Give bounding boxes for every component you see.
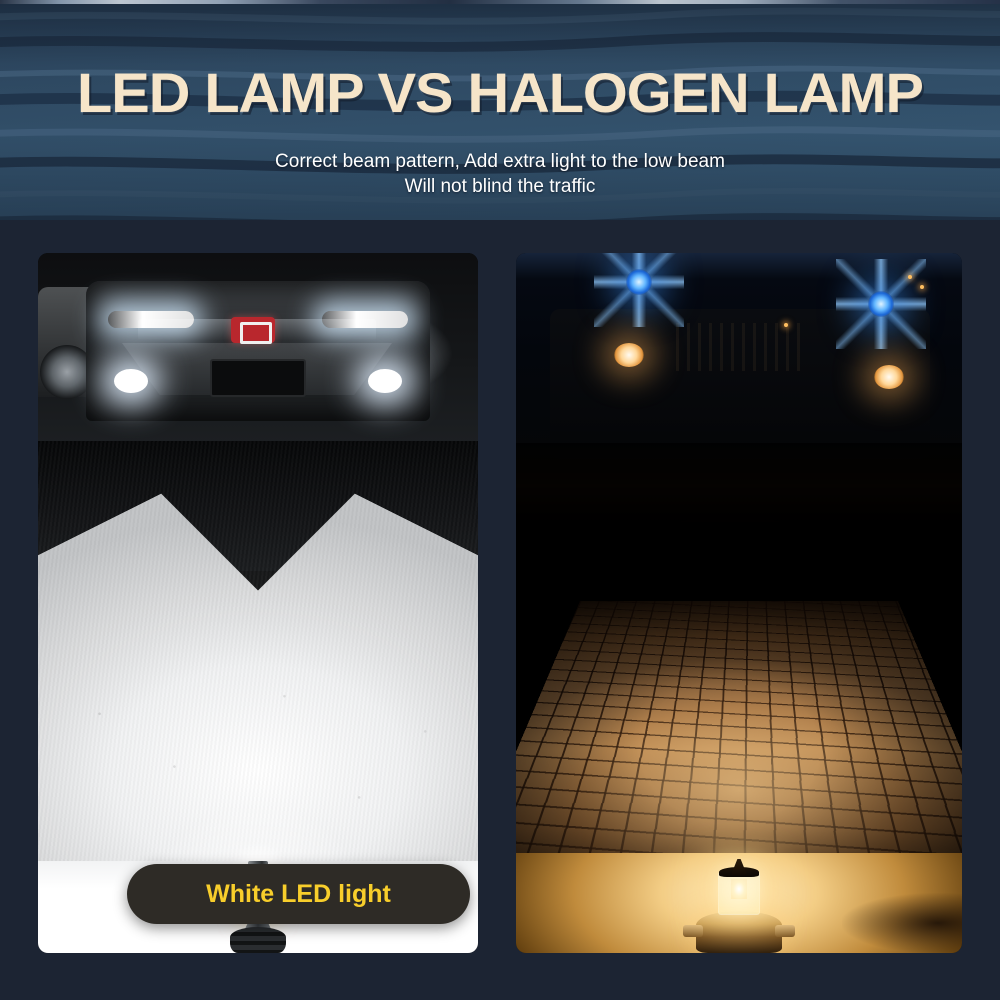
page-title: LED LAMP VS HALOGEN LAMP — [0, 60, 1000, 125]
blue-headlight-right — [868, 291, 894, 317]
header-banner: LED LAMP VS HALOGEN LAMP Correct beam pa… — [0, 4, 1000, 220]
halogen-foglight-left — [614, 343, 644, 367]
ambient-light-dot — [908, 275, 912, 279]
led-night-car-photo — [38, 253, 478, 453]
led-headlight-left — [108, 311, 194, 328]
led-beam-pattern-photo — [38, 441, 478, 881]
halogen-bulb-shadow — [842, 893, 962, 953]
license-plate — [210, 359, 306, 397]
subtitle-line-2: Will not blind the traffic — [0, 174, 1000, 199]
brick-vignette — [516, 443, 962, 883]
halogen-foglight-right — [874, 365, 904, 389]
halogen-bulb-photo — [516, 853, 962, 953]
honda-civic-front — [86, 281, 430, 421]
halogen-base-tab-right — [775, 925, 795, 937]
ambient-light-dot — [784, 323, 788, 327]
comparison-panel-led[interactable]: White LED light — [38, 253, 478, 953]
halogen-beam-pattern-photo — [516, 443, 962, 883]
subtitle-line-1: Correct beam pattern, Add extra light to… — [275, 151, 725, 172]
faint-grille — [676, 323, 806, 371]
night-sky — [516, 253, 962, 279]
led-headlight-right — [322, 311, 408, 328]
halogen-night-car-photo — [516, 253, 962, 453]
halogen-base-tab-left — [683, 925, 703, 937]
badge-white-led-light[interactable]: White LED light — [127, 864, 470, 924]
led-bulb-base — [230, 927, 286, 953]
led-foglight-right — [368, 369, 402, 393]
halogen-filament — [731, 879, 747, 899]
comparison-panel-halogen[interactable]: yellow halogen lamp — [516, 253, 962, 953]
halogen-bulb-base — [696, 911, 782, 953]
blue-headlight-left — [626, 269, 652, 295]
honda-emblem-icon — [231, 317, 275, 343]
product-comparison-page: LED LAMP VS HALOGEN LAMP Correct beam pa… — [0, 0, 1000, 1000]
halogen-bulb — [679, 857, 799, 953]
led-foglight-left — [114, 369, 148, 393]
page-subtitle: Correct beam pattern, Add extra light to… — [0, 149, 1000, 199]
ambient-light-dot — [920, 285, 924, 289]
